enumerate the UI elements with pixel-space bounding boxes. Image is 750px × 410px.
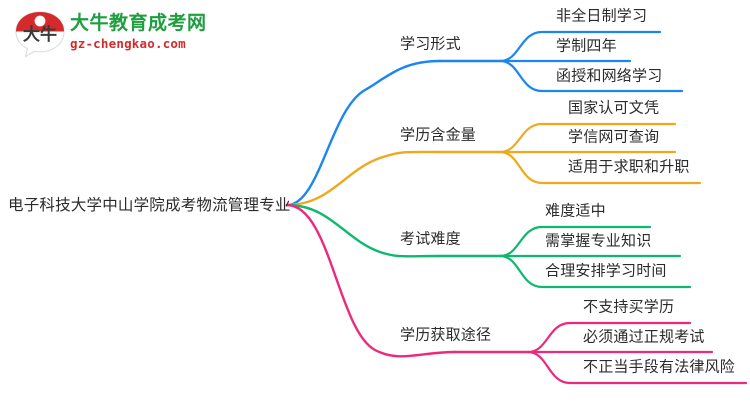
branch-node-1[interactable]: 学习形式: [400, 37, 461, 52]
leaf-node-1-1[interactable]: 非全日制学习: [556, 9, 647, 24]
trunk-line-2: [287, 152, 438, 205]
leaf-node-1-2[interactable]: 学制四年: [556, 39, 617, 54]
branch-node-4[interactable]: 学历获取途径: [400, 328, 491, 343]
branch-node-2[interactable]: 学历含金量: [400, 128, 476, 143]
leaf-node-2-3[interactable]: 适用于求职和升职: [568, 160, 690, 175]
leaf-node-4-1[interactable]: 不支持买学历: [583, 300, 674, 315]
branch-node-3[interactable]: 考试难度: [400, 232, 461, 247]
leaf-node-4-3[interactable]: 不正当手段有法律风险: [583, 360, 735, 375]
mindmap-canvas: 大牛 大牛教育成考网 gz-chengkao.com: [0, 0, 750, 410]
leaf-node-3-3[interactable]: 合理安排学习时间: [545, 264, 667, 279]
leaf-node-3-2[interactable]: 需掌握专业知识: [545, 234, 651, 249]
leaf-node-3-1[interactable]: 难度适中: [545, 204, 606, 219]
root-node[interactable]: 电子科技大学中山学院成考物流管理专业: [8, 198, 291, 214]
leaf-node-2-1[interactable]: 国家认可文凭: [568, 101, 659, 116]
leaf-node-1-3[interactable]: 函授和网络学习: [556, 69, 662, 84]
leaf-node-2-2[interactable]: 学信网可查询: [568, 130, 659, 145]
leaf-node-4-2[interactable]: 必须通过正规考试: [583, 330, 705, 345]
